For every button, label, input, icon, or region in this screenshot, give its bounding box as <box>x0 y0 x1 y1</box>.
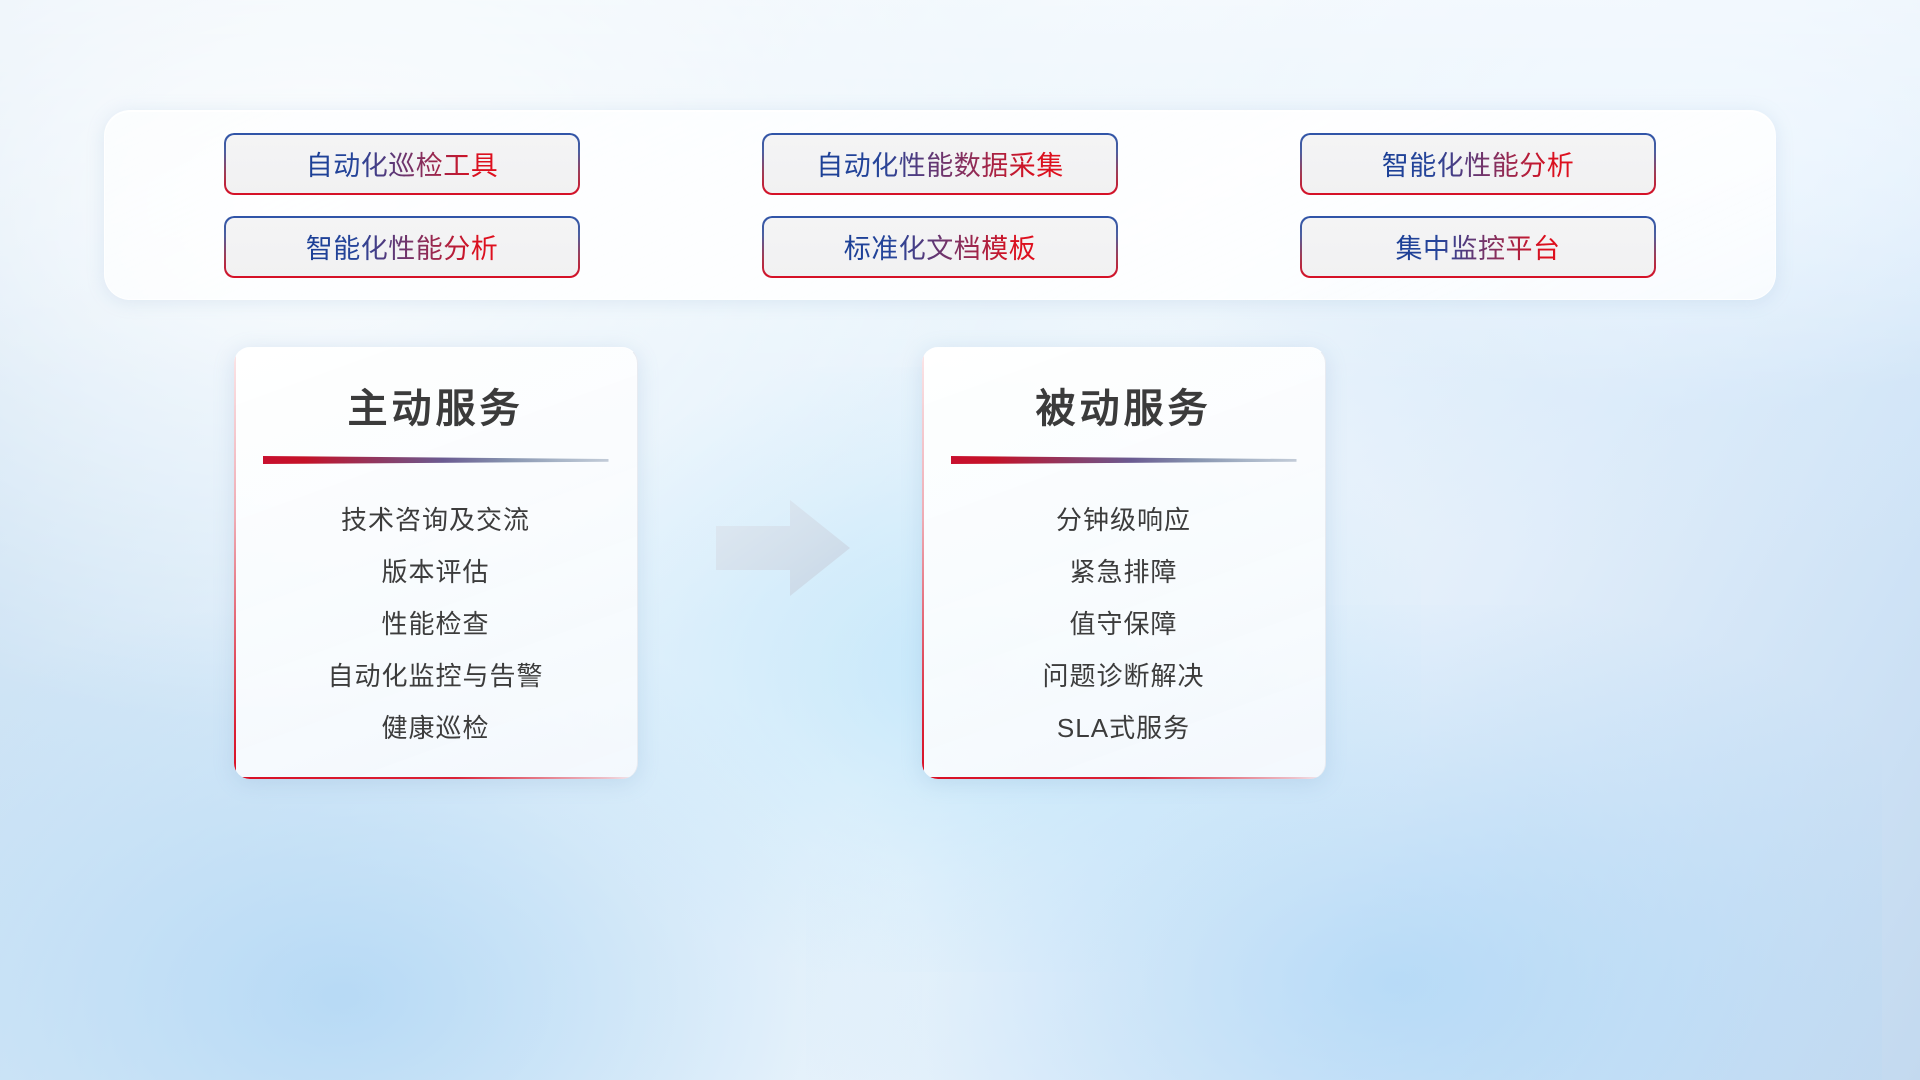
capability-tag-0[interactable]: 自动化巡检工具 <box>224 133 580 195</box>
right-arrow-icon <box>716 500 850 596</box>
active-service-list: 技术咨询及交流 版本评估 性能检查 自动化监控与告警 健康巡检 <box>234 494 637 754</box>
active-service-card[interactable]: 主动服务 技术咨询及交流 版本评估 性能检查 自动化监控与告警 健康巡检 <box>234 347 638 779</box>
card-title: 被动服务 <box>922 376 1325 434</box>
list-item: 技术咨询及交流 <box>234 494 637 546</box>
passive-service-card[interactable]: 被动服务 分钟级响应 紧急排障 值守保障 问题诊断解决 SLA式服务 <box>922 347 1326 779</box>
capability-tag-2[interactable]: 智能化性能分析 <box>1300 133 1656 195</box>
card-divider <box>263 456 609 464</box>
capability-tag-label: 智能化性能分析 <box>1382 144 1575 183</box>
capability-tag-panel: 自动化巡检工具 自动化性能数据采集 智能化性能分析 智能化性能分析 标准化文档模… <box>104 110 1776 300</box>
list-item: 健康巡检 <box>234 702 637 754</box>
list-item: 紧急排障 <box>922 546 1325 598</box>
capability-tag-5[interactable]: 集中监控平台 <box>1300 216 1656 278</box>
list-item: 问题诊断解决 <box>922 650 1325 702</box>
capability-tag-label: 标准化文档模板 <box>844 227 1037 266</box>
capability-tag-1[interactable]: 自动化性能数据采集 <box>762 133 1118 195</box>
list-item: 版本评估 <box>234 546 637 598</box>
capability-tag-label: 智能化性能分析 <box>306 227 499 266</box>
capability-tag-label: 集中监控平台 <box>1396 227 1561 266</box>
card-divider <box>951 456 1297 464</box>
list-item: 性能检查 <box>234 598 637 650</box>
capability-tag-4[interactable]: 标准化文档模板 <box>762 216 1118 278</box>
list-item: 值守保障 <box>922 598 1325 650</box>
capability-tag-label: 自动化性能数据采集 <box>816 144 1064 183</box>
card-title: 主动服务 <box>234 376 637 434</box>
capability-tag-label: 自动化巡检工具 <box>306 144 499 183</box>
passive-service-list: 分钟级响应 紧急排障 值守保障 问题诊断解决 SLA式服务 <box>922 494 1325 754</box>
list-item: 自动化监控与告警 <box>234 650 637 702</box>
list-item: SLA式服务 <box>922 702 1325 754</box>
capability-tag-3[interactable]: 智能化性能分析 <box>224 216 580 278</box>
list-item: 分钟级响应 <box>922 494 1325 546</box>
